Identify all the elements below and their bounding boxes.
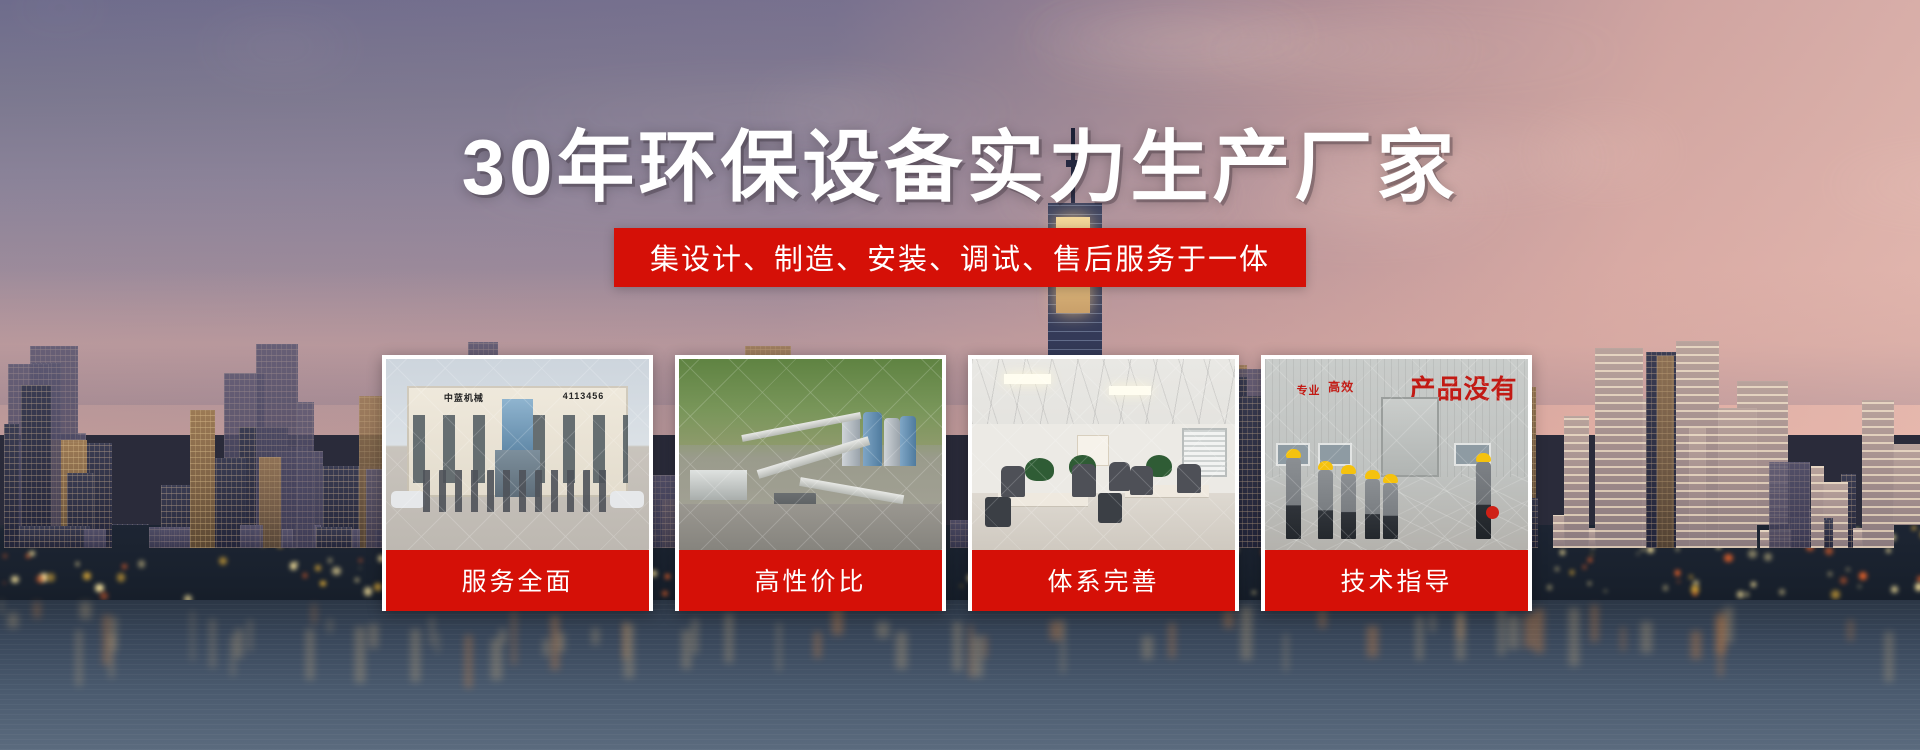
card-photo-office-interior <box>972 359 1235 550</box>
card-photo-factory-workers: 产品没有 专业 高效 <box>1265 359 1528 550</box>
feature-card[interactable]: 产品没有 专业 高效 技术指导 <box>1261 355 1532 611</box>
feature-card[interactable]: 高性价比 <box>675 355 946 611</box>
card-label: 技术指导 <box>1265 550 1528 611</box>
page-title: 30年环保设备实力生产厂家 <box>0 128 1920 206</box>
card-photo-office-building: 中蓝机械 4113456 <box>386 359 649 550</box>
feature-card-list: 中蓝机械 4113456 服务全面 <box>382 355 1538 611</box>
hero-banner: 30年环保设备实力生产厂家 集设计、制造、安装、调试、售后服务于一体 中蓝机械 … <box>0 0 1920 750</box>
feature-card[interactable]: 体系完善 <box>968 355 1239 611</box>
watermark-overlay <box>679 359 942 550</box>
card-photo-industrial-plant <box>679 359 942 550</box>
subtitle-badge: 集设计、制造、安装、调试、售后服务于一体 <box>614 228 1306 287</box>
card-label: 高性价比 <box>679 550 942 611</box>
card-label: 体系完善 <box>972 550 1235 611</box>
card-label: 服务全面 <box>386 550 649 611</box>
watermark-overlay <box>972 359 1235 550</box>
watermark-overlay <box>1265 359 1528 550</box>
river-water <box>0 600 1920 750</box>
watermark-overlay <box>386 359 649 550</box>
feature-card[interactable]: 中蓝机械 4113456 服务全面 <box>382 355 653 611</box>
